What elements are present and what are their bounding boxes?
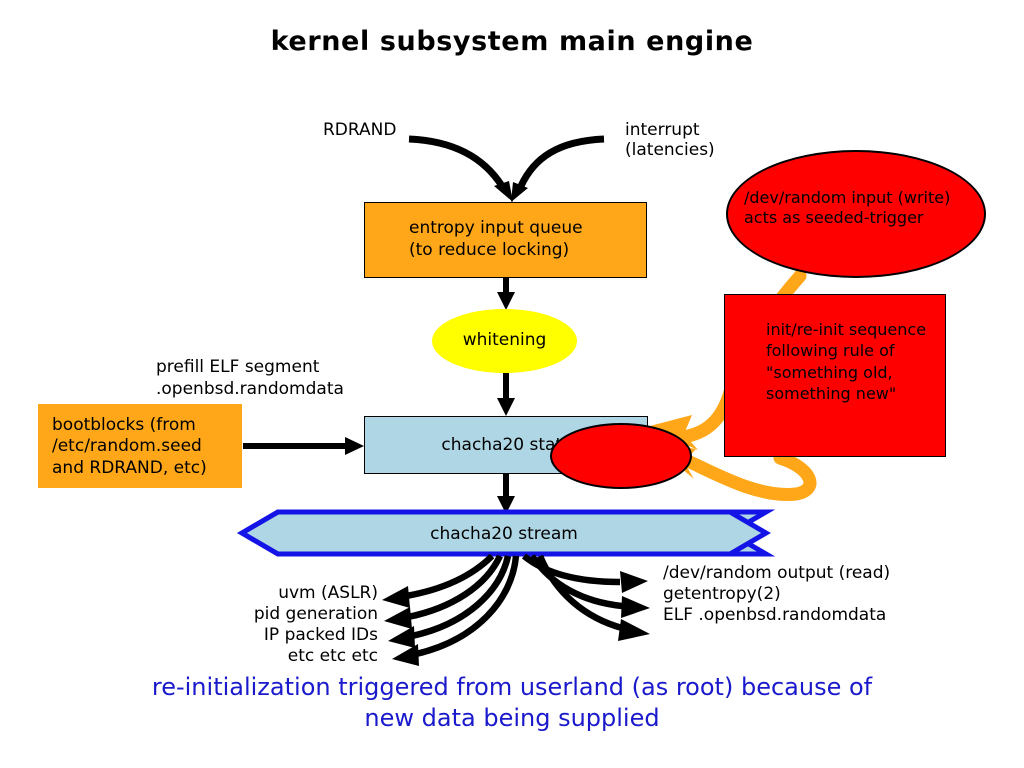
label-outputs-right: /dev/random output (read) getentropy(2) … bbox=[663, 563, 890, 626]
init-reinit-sequence-label: init/re-init sequence following rule of … bbox=[766, 319, 926, 404]
arrow-state-to-stream bbox=[497, 474, 515, 514]
arrow-whitening-to-state bbox=[497, 373, 515, 416]
reseed-overlay-ellipse bbox=[550, 423, 692, 489]
label-outputs-left: uvm (ASLR) pid generation IP packed IDs … bbox=[118, 583, 378, 667]
init-reinit-sequence-box: init/re-init sequence following rule of … bbox=[724, 294, 946, 457]
entropy-input-queue-box: entropy input queue (to reduce locking) bbox=[364, 202, 647, 278]
output-arrows-left bbox=[382, 556, 516, 666]
bootblocks-box: bootblocks (from /etc/random.seed and RD… bbox=[38, 404, 242, 488]
chacha20-stream-label-wrap: chacha20 stream bbox=[242, 512, 766, 554]
bootblocks-label: bootblocks (from /etc/random.seed and RD… bbox=[52, 415, 207, 479]
label-prefill-elf-segment: prefill ELF segment .openbsd.randomdata bbox=[156, 356, 344, 400]
output-arrows-right bbox=[524, 556, 650, 641]
arrow-rdrand-to-queue bbox=[409, 139, 513, 202]
arrow-bootblocks-to-state bbox=[243, 437, 364, 455]
whitening-node: whitening bbox=[432, 309, 577, 373]
bottom-caption: re-initialization triggered from userlan… bbox=[0, 672, 1024, 733]
page-title: kernel subsystem main engine bbox=[0, 26, 1024, 57]
label-interrupt: interrupt (latencies) bbox=[625, 121, 715, 160]
chacha20-stream-label: chacha20 stream bbox=[242, 524, 766, 544]
label-rdrand: RDRAND bbox=[323, 121, 396, 141]
arrow-interrupt-to-queue bbox=[511, 139, 604, 202]
entropy-input-queue-label: entropy input queue (to reduce locking) bbox=[409, 217, 583, 261]
dev-random-input-bubble: /dev/random input (write) acts as seeded… bbox=[726, 150, 986, 278]
arrow-queue-to-whitening bbox=[497, 278, 515, 310]
whitening-label: whitening bbox=[432, 330, 577, 350]
dev-random-input-label: /dev/random input (write) acts as seeded… bbox=[744, 188, 950, 228]
